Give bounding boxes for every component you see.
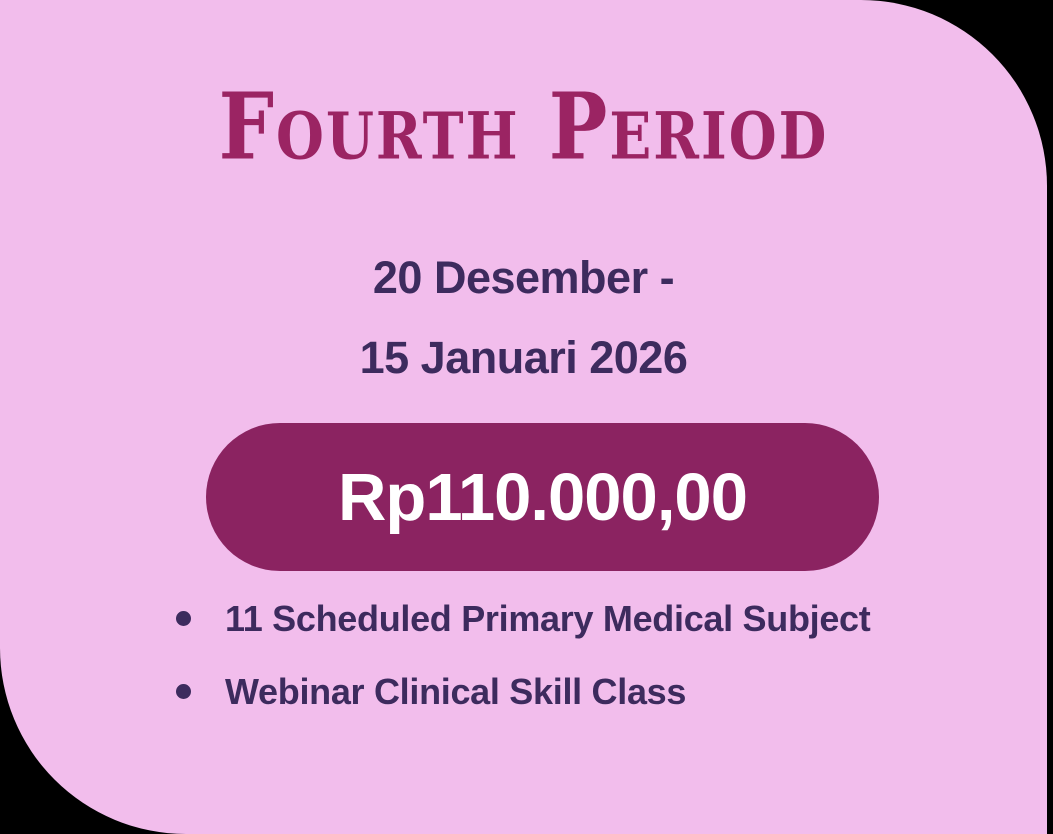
price-amount: Rp110.000,00 xyxy=(338,464,747,531)
list-item-label: 11 Scheduled Primary Medical Subject xyxy=(225,588,998,649)
bullet-dot-icon xyxy=(176,684,191,699)
list-item: Webinar Clinical Skill Class xyxy=(168,661,998,722)
page-title: Fourth Period xyxy=(0,76,1047,180)
date-range-line-2: 15 Januari 2026 xyxy=(0,318,1047,398)
price-badge: Rp110.000,00 xyxy=(206,423,879,571)
date-range: 20 Desember - 15 Januari 2026 xyxy=(0,238,1047,398)
bullet-dot-icon xyxy=(176,611,191,626)
list-item-label: Webinar Clinical Skill Class xyxy=(225,661,998,722)
feature-list: 11 Scheduled Primary Medical Subject Web… xyxy=(168,588,998,722)
pricing-card: Fourth Period 20 Desember - 15 Januari 2… xyxy=(0,0,1047,834)
list-item: 11 Scheduled Primary Medical Subject xyxy=(168,588,998,649)
date-range-line-1: 20 Desember - xyxy=(0,238,1047,318)
